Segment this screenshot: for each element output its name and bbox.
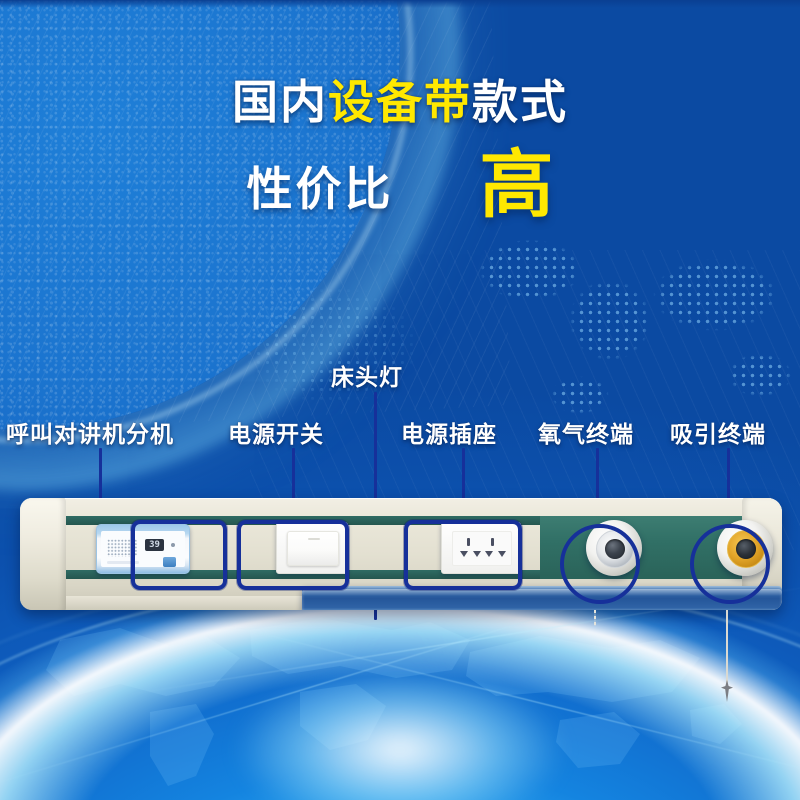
headline-accent: 设备带 xyxy=(328,76,472,128)
halftone-map-left xyxy=(200,250,460,440)
highlight-frame-power-switch xyxy=(237,520,349,590)
cord-hook-icon xyxy=(720,680,734,702)
panel-end-cap-left xyxy=(20,498,66,610)
highlight-frame-power-socket xyxy=(404,520,522,590)
highlight-frame-intercom xyxy=(131,520,227,590)
headline-block: 国内设备带款式 性价比 高 xyxy=(0,78,800,219)
headline-subtext: 性价比 xyxy=(247,153,394,219)
headline-line-1: 国内设备带款式 xyxy=(0,78,800,126)
headline-big-word: 高 xyxy=(480,152,554,219)
headline-part-1: 国内 xyxy=(232,76,328,128)
halftone-map-right xyxy=(460,200,800,450)
poster-canvas: 国内设备带款式 性价比 高 呼叫对讲机分机 电源开关 床头灯 电源插座 氧气终端… xyxy=(0,0,800,800)
highlight-frame-oxygen xyxy=(560,524,640,604)
headline-part-2: 款式 xyxy=(472,76,568,128)
highlight-frame-suction xyxy=(690,524,770,604)
headline-line-2: 性价比 高 xyxy=(0,152,800,219)
top-edge-shade xyxy=(0,0,800,8)
